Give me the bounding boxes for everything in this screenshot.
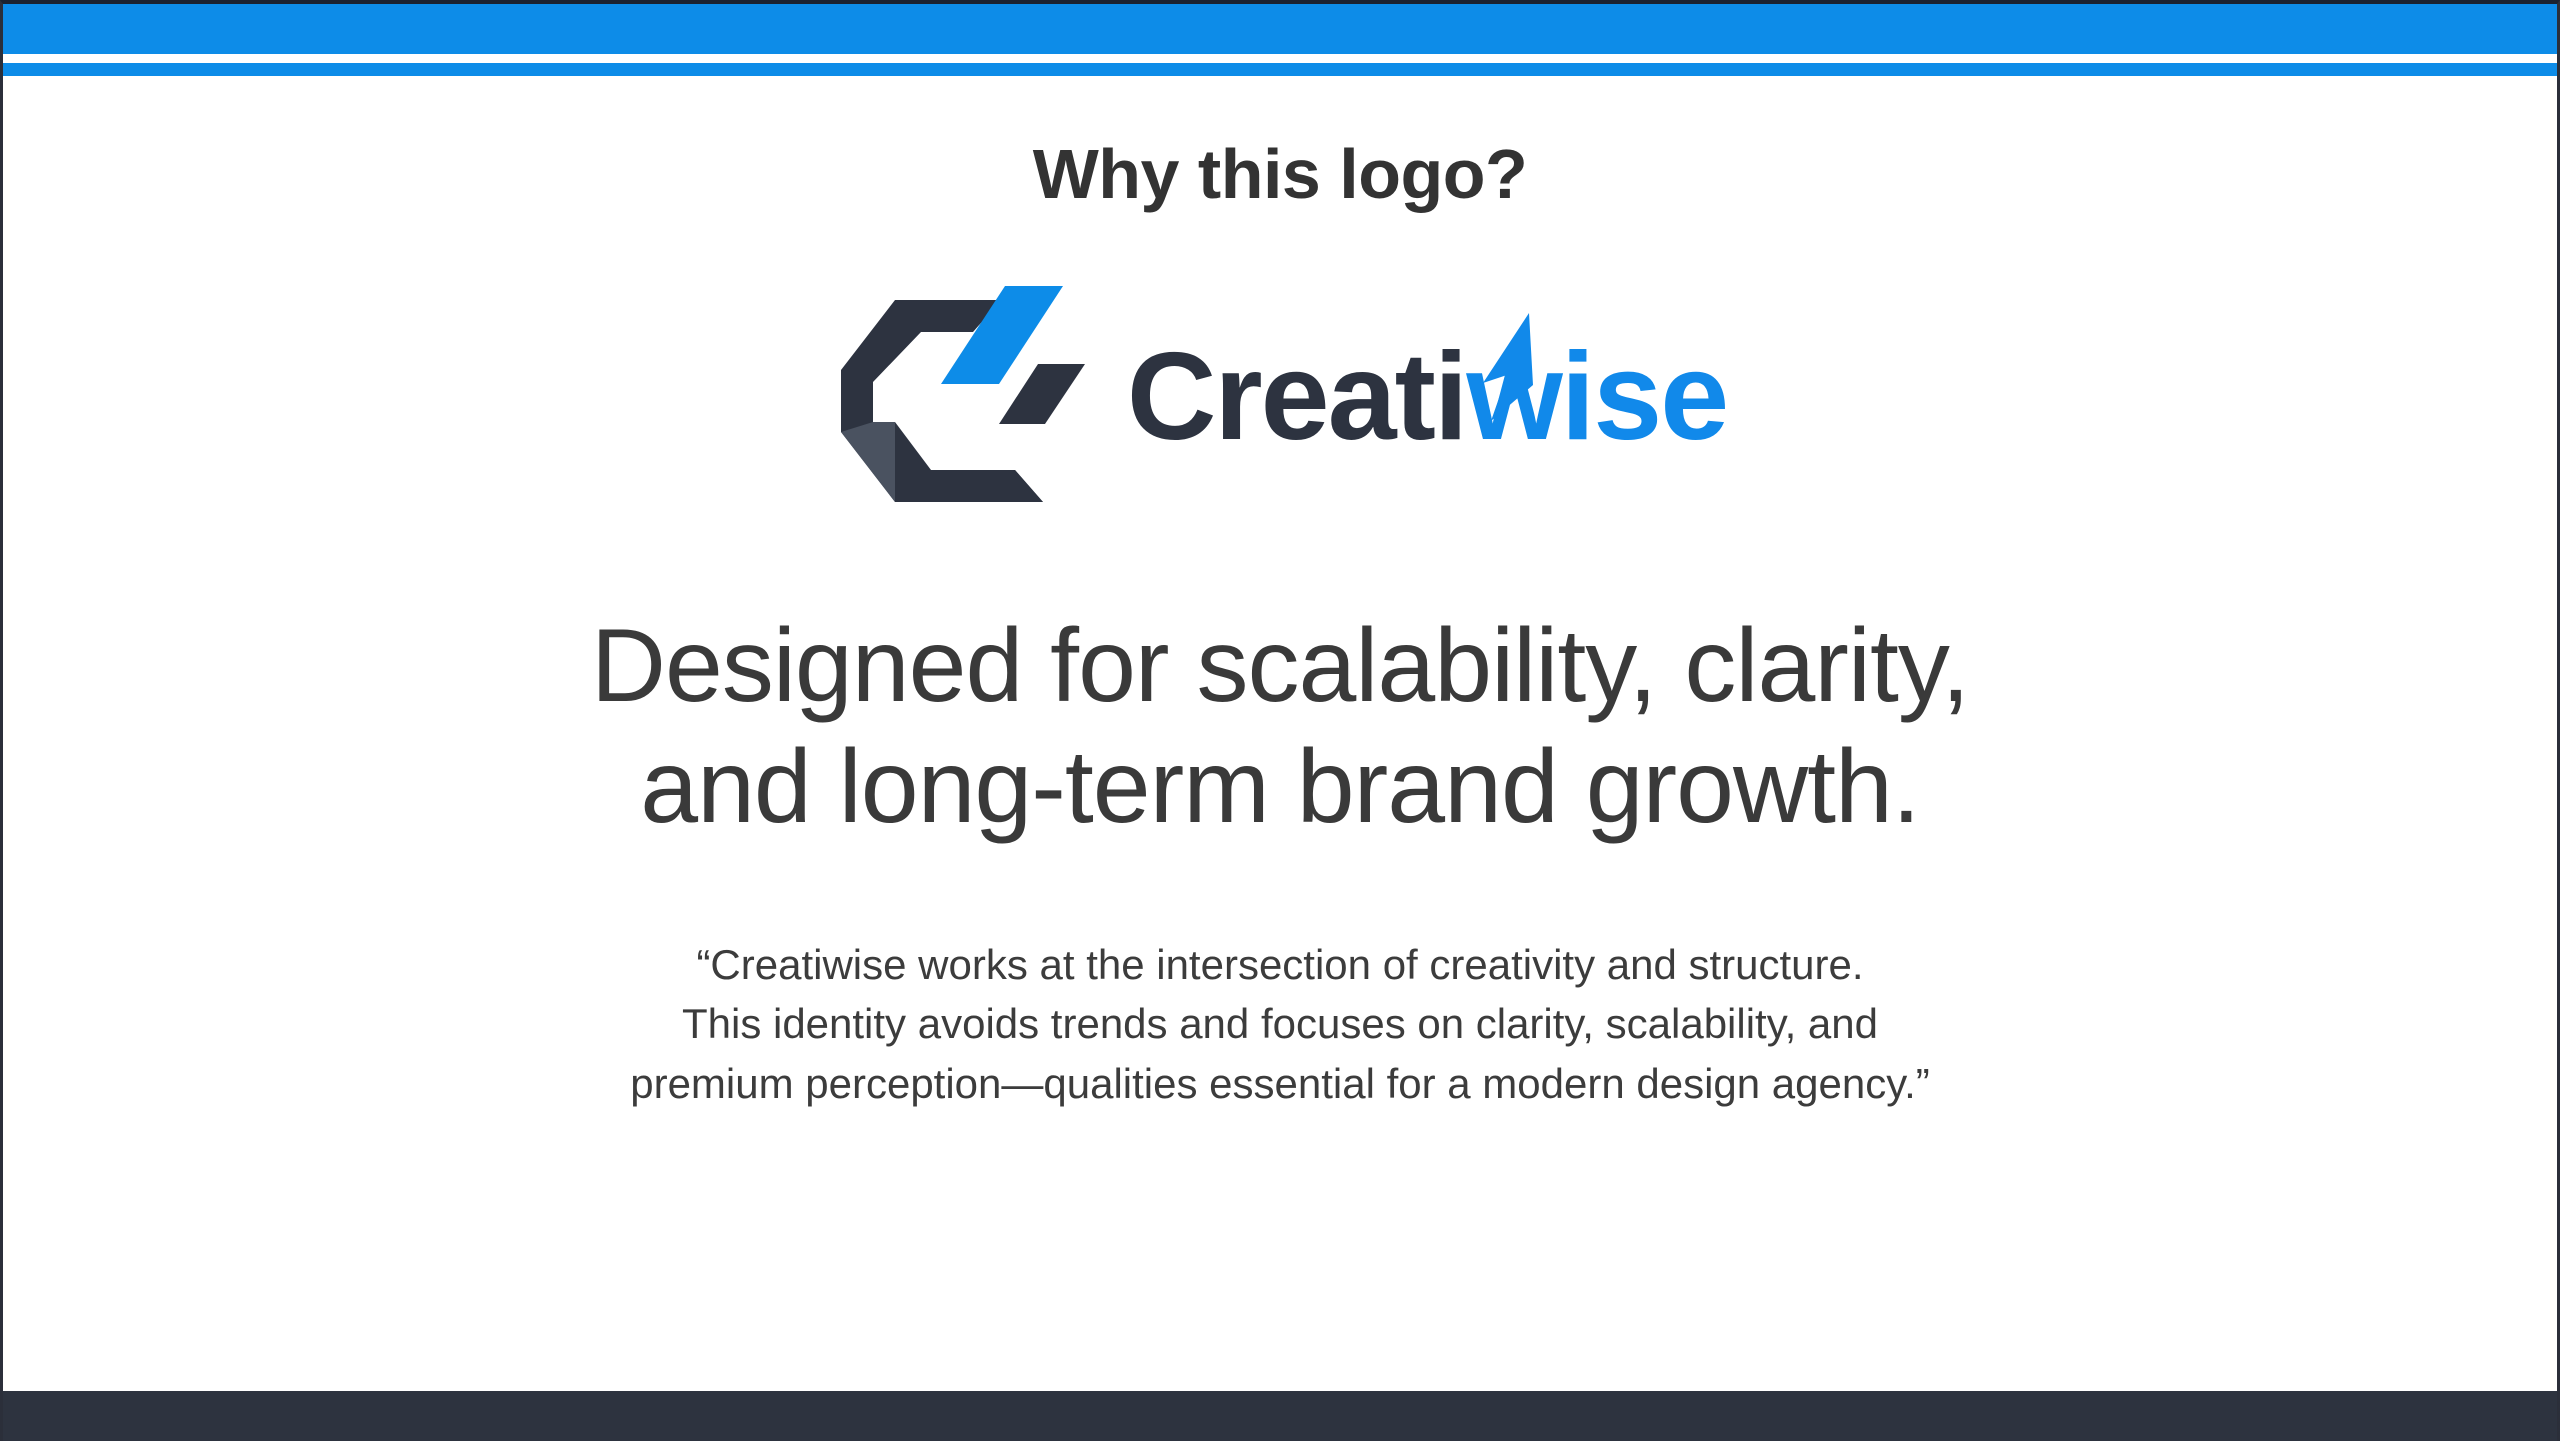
spark-accent-icon (1483, 313, 1535, 421)
top-accent-band-secondary (3, 63, 2557, 76)
headline: Designed for scalability, clarity, and l… (591, 606, 1969, 849)
headline-line-2: and long-term brand growth. (591, 727, 1969, 849)
wordmark-part-creati: Creati (1127, 335, 1466, 459)
quote-block: “Creatiwise works at the intersection of… (630, 935, 1930, 1114)
headline-line-1: Designed for scalability, clarity, (591, 606, 1969, 728)
quote-line-1: “Creatiwise works at the intersection of… (630, 935, 1930, 995)
logo-lockup: Creati wise (833, 272, 1727, 522)
top-accent-band-primary (3, 4, 2557, 54)
slide-canvas: Why this logo? Creati wise (0, 0, 2560, 1441)
page-title: Why this logo? (1033, 138, 1528, 212)
slide-content: Why this logo? Creati wise (3, 76, 2557, 1391)
quote-line-3: premium perception—qualities essential f… (630, 1054, 1930, 1114)
creatiwise-logo-mark (833, 272, 1093, 522)
quote-line-2: This identity avoids trends and focuses … (630, 994, 1930, 1054)
creatiwise-wordmark: Creati wise (1127, 335, 1727, 459)
footer-accent-band (3, 1391, 2557, 1441)
